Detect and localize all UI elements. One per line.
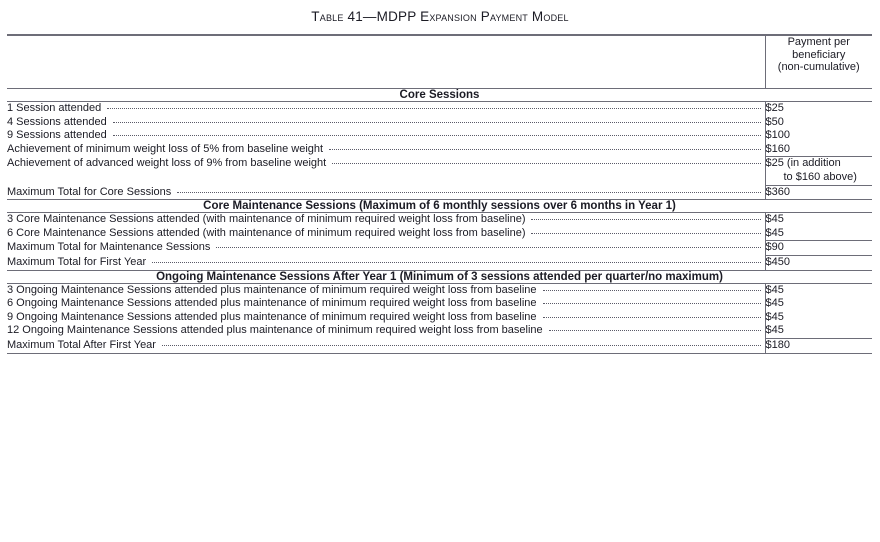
- row-label: 12 Ongoing Maintenance Sessions attended…: [7, 324, 543, 338]
- row-value: $100: [766, 129, 873, 143]
- table-row: 9 Sessions attended: [7, 129, 765, 143]
- row-value: $360: [766, 186, 873, 200]
- row-value: $45: [766, 227, 873, 241]
- row-label: Maximum Total for First Year: [7, 256, 146, 270]
- row-label: Maximum Total for Core Sessions: [7, 186, 171, 200]
- max-total-after-first-year-row: Maximum Total After First Year $180: [7, 339, 872, 353]
- max-total-core-sessions-row: Maximum Total for Core Sessions $360: [7, 186, 872, 200]
- leader-dots: [162, 345, 761, 346]
- leader-dots: [152, 262, 760, 263]
- max-total-after-first-year-value-cell: $180: [765, 339, 872, 353]
- row-value: $45: [766, 324, 873, 338]
- leader-dots: [216, 247, 760, 248]
- row-value: $160: [766, 143, 873, 157]
- leader-dots: [113, 122, 761, 123]
- core-sessions-labels: 1 Session attended 4 Sessions attended 9…: [7, 102, 765, 157]
- advanced-weight-loss-row: Achievement of advanced weight loss of 9…: [7, 157, 872, 185]
- max-total-core-label-cell: Maximum Total for Core Sessions: [7, 186, 765, 200]
- table-row: 4 Sessions attended: [7, 116, 765, 130]
- row-value: $45: [766, 213, 873, 227]
- row-label: 6 Core Maintenance Sessions attended (wi…: [7, 227, 525, 241]
- section-band-core-maintenance-row: Core Maintenance Sessions (Maximum of 6 …: [7, 200, 872, 213]
- table-row: Maximum Total for First Year: [7, 256, 765, 270]
- leader-dots: [543, 290, 761, 291]
- leader-dots: [543, 317, 761, 318]
- table-row: Achievement of minimum weight loss of 5%…: [7, 143, 765, 157]
- leader-dots: [177, 192, 760, 193]
- row-label: 9 Ongoing Maintenance Sessions attended …: [7, 311, 537, 325]
- row-label: 4 Sessions attended: [7, 116, 107, 130]
- table-row: Maximum Total for Core Sessions: [7, 186, 765, 200]
- leader-dots: [107, 108, 760, 109]
- table-container: Payment per beneficiary (non-cumulative)…: [7, 34, 872, 354]
- table-row: Maximum Total After First Year: [7, 339, 765, 353]
- row-value: $45: [766, 284, 873, 298]
- table-header-row: Payment per beneficiary (non-cumulative): [7, 36, 872, 89]
- core-maintenance-rows-block: 3 Core Maintenance Sessions attended (wi…: [7, 213, 872, 241]
- row-value-line2: to $160 above): [766, 171, 873, 185]
- header-cell-label: [7, 36, 765, 89]
- table-row: 6 Ongoing Maintenance Sessions attended …: [7, 297, 765, 311]
- ongoing-maintenance-rows-block: 3 Ongoing Maintenance Sessions attended …: [7, 284, 872, 339]
- table-bottom-rule: [7, 353, 872, 354]
- row-label: Maximum Total for Maintenance Sessions: [7, 241, 210, 255]
- section-band-core-sessions: Core Sessions: [7, 89, 872, 102]
- core-maintenance-values: $45 $45: [765, 213, 872, 241]
- leader-dots: [113, 135, 761, 136]
- row-value: $180: [766, 339, 873, 353]
- max-total-core-value-cell: $360: [765, 186, 872, 200]
- section-band-core-maintenance: Core Maintenance Sessions (Maximum of 6 …: [7, 200, 872, 213]
- row-value: $90: [766, 241, 873, 255]
- row-value: $450: [766, 256, 873, 270]
- section-band-core-sessions-row: Core Sessions: [7, 89, 872, 102]
- table-row: Achievement of advanced weight loss of 9…: [7, 157, 765, 171]
- leader-dots: [531, 219, 760, 220]
- max-total-maintenance-label-cell: Maximum Total for Maintenance Sessions: [7, 241, 765, 255]
- row-label: Achievement of minimum weight loss of 5%…: [7, 143, 323, 157]
- leader-dots: [543, 303, 761, 304]
- rule-segment-right: [765, 353, 872, 354]
- row-value: $45: [766, 311, 873, 325]
- table-row: 12 Ongoing Maintenance Sessions attended…: [7, 324, 765, 338]
- row-label: 6 Ongoing Maintenance Sessions attended …: [7, 297, 537, 311]
- leader-dots: [329, 149, 760, 150]
- max-total-first-year-row: Maximum Total for First Year $450: [7, 256, 872, 270]
- rule-segment-left: [7, 353, 765, 354]
- row-value: $50: [766, 116, 873, 130]
- max-total-first-year-value-cell: $450: [765, 256, 872, 270]
- page-title: Table 41—MDPP Expansion Payment Model: [0, 0, 880, 34]
- table-row: 3 Core Maintenance Sessions attended (wi…: [7, 213, 765, 227]
- leader-dots: [531, 233, 760, 234]
- core-maintenance-labels: 3 Core Maintenance Sessions attended (wi…: [7, 213, 765, 241]
- advanced-weight-loss-value-cell: $25 (in addition to $160 above): [765, 157, 872, 185]
- row-label: 9 Sessions attended: [7, 129, 107, 143]
- ongoing-maintenance-values: $45 $45 $45 $45: [765, 284, 872, 339]
- table-row: 9 Ongoing Maintenance Sessions attended …: [7, 311, 765, 325]
- header-payment-line2: beneficiary: [766, 49, 873, 62]
- row-value-line1: $25 (in addition: [766, 157, 873, 171]
- row-label: Maximum Total After First Year: [7, 339, 156, 353]
- core-sessions-rows-block: 1 Session attended 4 Sessions attended 9…: [7, 102, 872, 157]
- max-total-after-first-year-label-cell: Maximum Total After First Year: [7, 339, 765, 353]
- ongoing-maintenance-labels: 3 Ongoing Maintenance Sessions attended …: [7, 284, 765, 339]
- table-row: 3 Ongoing Maintenance Sessions attended …: [7, 284, 765, 298]
- header-payment-line3: (non-cumulative): [766, 61, 873, 74]
- section-band-ongoing-maintenance-row: Ongoing Maintenance Sessions After Year …: [7, 271, 872, 284]
- leader-dots: [332, 163, 760, 164]
- table-page: Table 41—MDPP Expansion Payment Model Pa…: [0, 0, 880, 542]
- row-label: 3 Ongoing Maintenance Sessions attended …: [7, 284, 537, 298]
- row-label: Achievement of advanced weight loss of 9…: [7, 157, 326, 171]
- max-total-first-year-label-cell: Maximum Total for First Year: [7, 256, 765, 270]
- leader-dots: [549, 330, 761, 331]
- core-sessions-values: $25 $50 $100 $160: [765, 102, 872, 157]
- table-row: Maximum Total for Maintenance Sessions: [7, 241, 765, 255]
- max-total-maintenance-row: Maximum Total for Maintenance Sessions $…: [7, 241, 872, 255]
- row-label: 1 Session attended: [7, 102, 101, 116]
- table-row: 1 Session attended: [7, 102, 765, 116]
- row-value: $45: [766, 297, 873, 311]
- table-row: 6 Core Maintenance Sessions attended (wi…: [7, 227, 765, 241]
- row-label: 3 Core Maintenance Sessions attended (wi…: [7, 213, 525, 227]
- advanced-weight-loss-label-cell: Achievement of advanced weight loss of 9…: [7, 157, 765, 185]
- row-value: $25: [766, 102, 873, 116]
- max-total-maintenance-value-cell: $90: [765, 241, 872, 255]
- header-payment-line1: Payment per: [766, 36, 873, 49]
- section-band-ongoing-maintenance: Ongoing Maintenance Sessions After Year …: [7, 271, 872, 284]
- mdpp-payment-model-table: Payment per beneficiary (non-cumulative)…: [7, 34, 872, 354]
- header-cell-payment: Payment per beneficiary (non-cumulative): [765, 36, 872, 89]
